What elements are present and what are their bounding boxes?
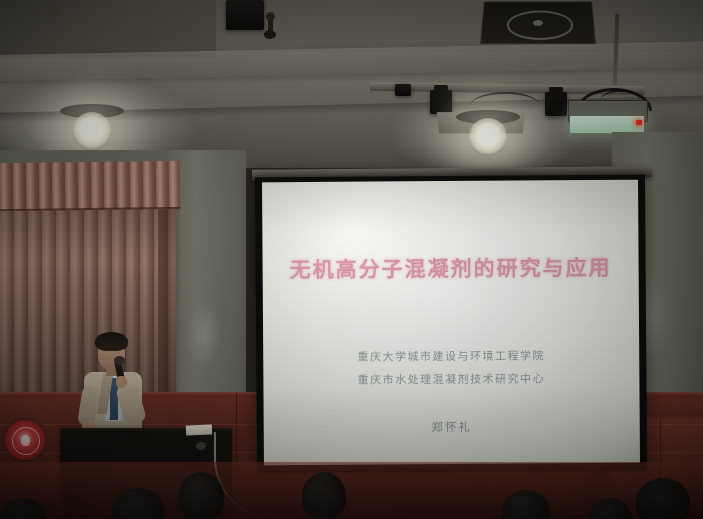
- slide-affiliation-line-2: 重庆市水处理混凝剂技术研究中心: [263, 370, 639, 389]
- smoke-detector-icon: [44, 6, 61, 15]
- slide-title: 无机高分子混凝剂的研究与应用: [263, 252, 639, 285]
- projection-screen: 无机高分子混凝剂的研究与应用 重庆大学城市建设与环境工程学院 重庆市水处理混凝剂…: [255, 175, 647, 472]
- column-highlight: [186, 300, 222, 370]
- projector-status-led: [636, 120, 642, 125]
- slide-affiliation-line-1: 重庆大学城市建设与环境工程学院: [263, 347, 639, 366]
- curtain-valance: [0, 161, 180, 211]
- ceiling-vent-icon: [480, 1, 596, 44]
- slide-presenter-name: 郑怀礼: [264, 418, 640, 437]
- emblem-core: [21, 435, 30, 446]
- sprinkler-head-icon: [266, 12, 275, 21]
- presenter-hand: [116, 376, 127, 388]
- vent-center: [533, 20, 543, 26]
- projector-lens-face: [570, 116, 644, 133]
- podium-paper: [186, 424, 212, 435]
- university-emblem: [5, 420, 45, 460]
- stage-spotlight-icon: [430, 90, 452, 114]
- pendant-lamp-icon: [60, 104, 124, 154]
- photo-scene: 无机高分子混凝剂的研究与应用 重庆大学城市建设与环境工程学院 重庆市水处理混凝剂…: [0, 0, 703, 519]
- lamp-bulb: [468, 118, 508, 156]
- ceiling-corner-shadow: [0, 0, 216, 58]
- screen-surface: 无机高分子混凝剂的研究与应用 重庆大学城市建设与环境工程学院 重庆市水处理混凝剂…: [262, 180, 640, 467]
- lamp-bulb: [72, 112, 112, 150]
- presenter-hair: [95, 332, 128, 351]
- audience-head: [302, 472, 346, 519]
- sprinkler-deflector-icon: [264, 30, 276, 39]
- audience-head: [636, 478, 690, 519]
- ceiling-speaker-icon: [226, 0, 264, 30]
- truss-clamp-icon: [395, 84, 411, 96]
- audience-head: [178, 472, 224, 519]
- projector-icon: [568, 100, 646, 134]
- pendant-lamp-icon: [456, 110, 520, 160]
- microphone-capsule: [114, 356, 125, 365]
- podium-highlight: [196, 442, 206, 450]
- stage-spotlight-icon: [545, 92, 567, 116]
